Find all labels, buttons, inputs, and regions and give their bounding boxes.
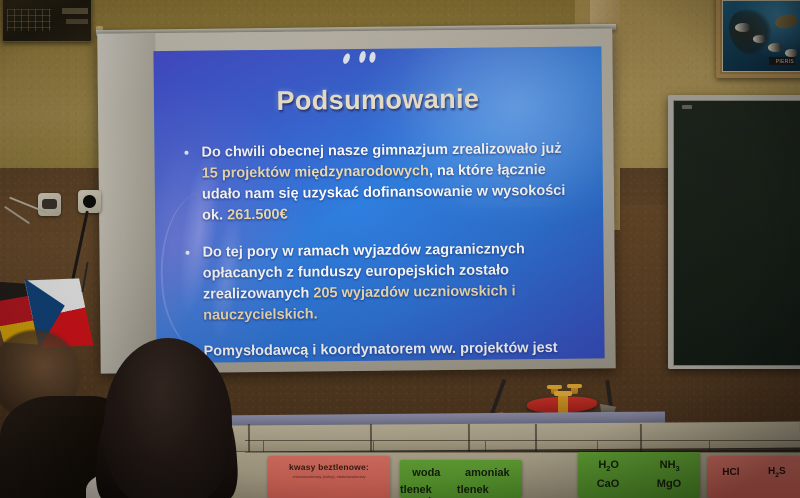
slide-mark-icon: [358, 50, 367, 63]
slide-top-marks: [339, 51, 399, 68]
slide-highlight-text: 15 projektów międzynarodowych: [202, 163, 429, 181]
chalkboard: [668, 95, 800, 369]
poster-tag-label: PIERIS: [776, 59, 794, 65]
chem-item: amoniak: [465, 467, 510, 479]
projection-screen: Podsumowanie Do chwili obecnej nasze gim…: [97, 28, 616, 373]
lab-stand-cap-icon: [567, 384, 582, 388]
chem-poster-acids-anoxic: kwasy beztlenowe: chlorowodorowy (solny)…: [268, 456, 390, 498]
chem-item: tlenek magnezu: [457, 484, 522, 498]
wall-control-panel: [2, 0, 92, 42]
tile-divider: [709, 441, 710, 452]
classroom-photo-scene: PIERIS Podsumowanie Do chwili obecnej na…: [0, 0, 800, 498]
chem-formula: CaO: [597, 478, 620, 490]
chem-poster-row: HCl H2S: [708, 456, 800, 479]
chem-item: tlenek wapnia: [400, 484, 457, 498]
socket-hole-icon: [83, 195, 96, 208]
slide-highlight-text: 261.500€: [227, 207, 288, 224]
fish-icon: [753, 35, 766, 43]
coral-icon: [729, 9, 771, 55]
chem-poster-water-ammonia: woda amoniak tlenek wapnia tlenek magnez…: [400, 460, 522, 498]
presentation-slide: Podsumowanie Do chwili obecnej nasze gim…: [153, 46, 604, 363]
chem-poster-formulas-red: HCl H2S: [708, 456, 800, 498]
chem-poster-row: woda amoniak: [400, 460, 522, 479]
slide-bullet-3: Pomysłodawcą i koordynatorem ww. projekt…: [182, 338, 582, 363]
tile-divider: [373, 441, 374, 452]
aquarium-poster-image: PIERIS: [722, 0, 800, 72]
chem-poster-row: CaO MgO: [578, 473, 700, 490]
slide-bullet-list: Do chwili obecnej nasze gimnazjum zreali…: [180, 139, 583, 363]
aquarium-poster: PIERIS: [716, 0, 800, 78]
fish-icon: [774, 13, 798, 30]
slide-mark-icon: [342, 52, 352, 64]
tile-divider: [263, 441, 264, 452]
fish-icon: [785, 49, 797, 57]
chem-poster-formulas-green: H2O NH3 CaO MgO: [578, 452, 700, 498]
tile-grid: [245, 440, 800, 453]
chem-item: woda: [412, 467, 440, 479]
slide-mark-icon: [369, 51, 377, 63]
tile-divider: [485, 441, 486, 452]
panel-grid-icon: [7, 9, 51, 31]
chem-poster-title: kwasy beztlenowe:: [268, 456, 390, 472]
chalkboard-surface: [673, 100, 800, 366]
panel-label-bar-2: [66, 19, 88, 24]
wall-socket-left: [38, 193, 61, 216]
chem-formula: H2S: [768, 466, 786, 479]
slide-title: Podsumowanie: [154, 82, 602, 118]
slide-text: Pomysłodawcą i koordynatorem ww. projekt…: [203, 340, 557, 363]
slide-text: Do chwili obecnej nasze gimnazjum zreali…: [201, 141, 561, 161]
chem-poster-subtitle: chlorowodorowy (solny), siarkowodorowy: [268, 472, 390, 479]
wall-socket-right: [78, 190, 101, 213]
chem-formula: NH3: [660, 459, 680, 473]
panel-label-bar: [62, 8, 88, 14]
foreground-person-head: [104, 338, 232, 498]
fish-icon: [735, 23, 750, 32]
chem-poster-row: tlenek wapnia tlenek magnezu: [400, 479, 522, 498]
chem-formula: MgO: [657, 478, 681, 490]
slide-bullet-2: Do tej pory w ramach wyjazdów zagraniczn…: [181, 238, 582, 327]
fish-icon: [768, 43, 782, 52]
socket-plug-icon: [42, 199, 57, 209]
lab-stand-cap-icon: [554, 391, 572, 396]
lab-stand-cap-icon: [547, 385, 562, 389]
chalkboard-clip-icon: [682, 105, 692, 109]
slide-bullet-1: Do chwili obecnej nasze gimnazjum zreali…: [180, 139, 581, 228]
chem-formula: HCl: [722, 467, 739, 478]
chem-formula: H2O: [598, 459, 619, 473]
chem-poster-row: H2O NH3: [578, 452, 700, 473]
tile-divider: [597, 441, 598, 452]
screen-fold-shadow: [97, 33, 159, 374]
